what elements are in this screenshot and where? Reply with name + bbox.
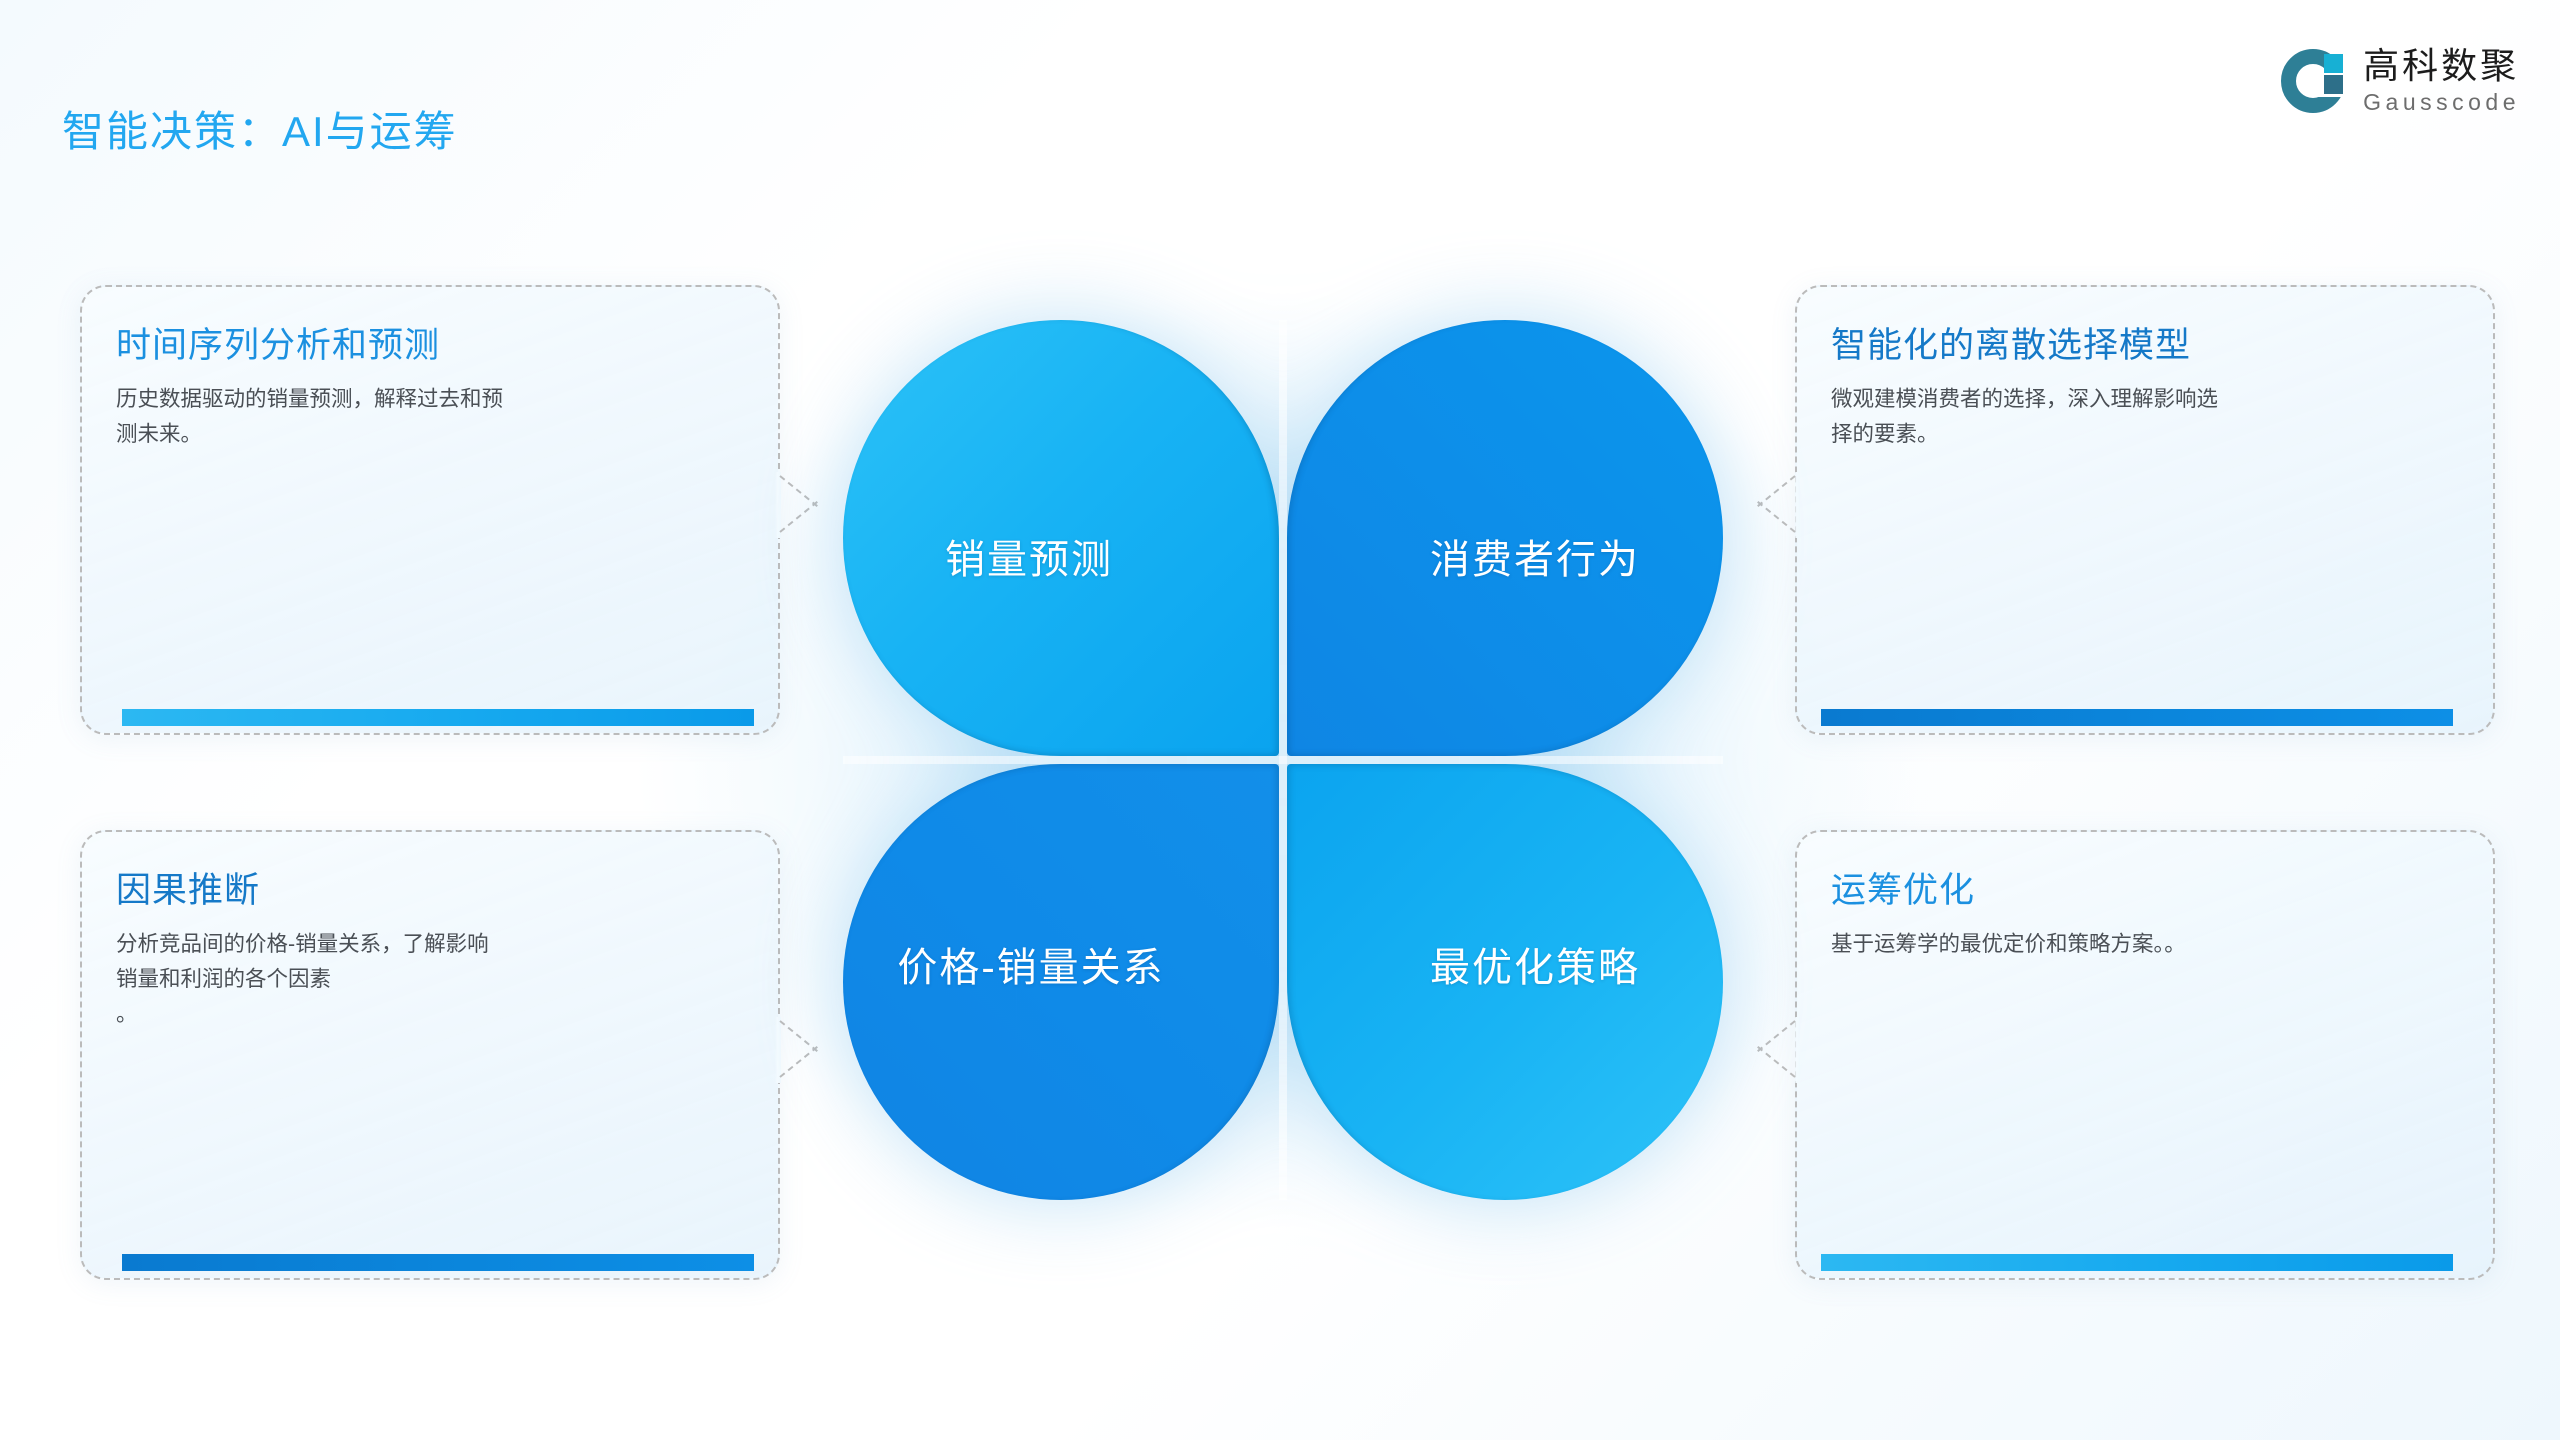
card-body: 微观建模消费者的选择，深入理解影响选 择的要素。 bbox=[1831, 382, 2459, 452]
card-title: 因果推断 bbox=[116, 862, 744, 913]
petal-label: 最优化策略 bbox=[1430, 935, 1640, 993]
card-operations-research[interactable]: 运筹优化 基于运筹学的最优定价和策略方案。。 bbox=[1795, 830, 2495, 1280]
petal-seam-vertical bbox=[1279, 320, 1287, 1200]
card-causal-inference[interactable]: 因果推断 分析竞品间的价格-销量关系，了解影响 销量和利润的各个因素 。 bbox=[80, 830, 780, 1280]
connector-chevron-icon bbox=[780, 471, 824, 535]
card-title: 智能化的离散选择模型 bbox=[1831, 317, 2459, 368]
card-time-series[interactable]: 时间序列分析和预测 历史数据驱动的销量预测，解释过去和预 测未来。 bbox=[80, 285, 780, 735]
petal-label: 价格-销量关系 bbox=[897, 935, 1164, 993]
card-title: 运筹优化 bbox=[1831, 862, 2459, 913]
logo-name-cn: 高科数聚 bbox=[2363, 48, 2520, 84]
card-body: 基于运筹学的最优定价和策略方案。。 bbox=[1831, 927, 2459, 962]
brand-logo: 高科数聚 Gausscode bbox=[2281, 48, 2520, 114]
card-accent-bar bbox=[122, 709, 754, 726]
card-accent-bar bbox=[1821, 1254, 2453, 1271]
petal-label: 销量预测 bbox=[945, 527, 1113, 585]
connector-chevron-icon bbox=[780, 1016, 824, 1080]
petal-sales-forecast[interactable]: 销量预测 bbox=[843, 320, 1279, 756]
quadrant-flower-diagram: 销量预测 消费者行为 价格-销量关系 最优化策略 bbox=[843, 320, 1723, 1200]
petal-price-volume[interactable]: 价格-销量关系 bbox=[843, 764, 1279, 1200]
petal-label: 消费者行为 bbox=[1430, 527, 1640, 585]
page-title: 智能决策：AI与运筹 bbox=[62, 98, 458, 159]
connector-chevron-icon bbox=[1751, 471, 1795, 535]
petal-consumer-behavior[interactable]: 消费者行为 bbox=[1287, 320, 1723, 756]
card-accent-bar bbox=[1821, 709, 2453, 726]
card-body: 历史数据驱动的销量预测，解释过去和预 测未来。 bbox=[116, 382, 744, 452]
logo-name-en: Gausscode bbox=[2363, 91, 2520, 114]
slide-canvas: 智能决策：AI与运筹 高科数聚 Gausscode 时间序列分析和预测 历史数据… bbox=[0, 0, 2560, 1440]
card-accent-bar bbox=[122, 1254, 754, 1271]
card-body: 分析竞品间的价格-销量关系，了解影响 销量和利润的各个因素 。 bbox=[116, 927, 744, 1031]
card-title: 时间序列分析和预测 bbox=[116, 317, 744, 368]
card-discrete-choice[interactable]: 智能化的离散选择模型 微观建模消费者的选择，深入理解影响选 择的要素。 bbox=[1795, 285, 2495, 735]
petal-optimal-strategy[interactable]: 最优化策略 bbox=[1287, 764, 1723, 1200]
petal-seam-horizontal bbox=[843, 756, 1723, 764]
connector-chevron-icon bbox=[1751, 1016, 1795, 1080]
gausscode-logo-icon bbox=[2281, 49, 2345, 113]
